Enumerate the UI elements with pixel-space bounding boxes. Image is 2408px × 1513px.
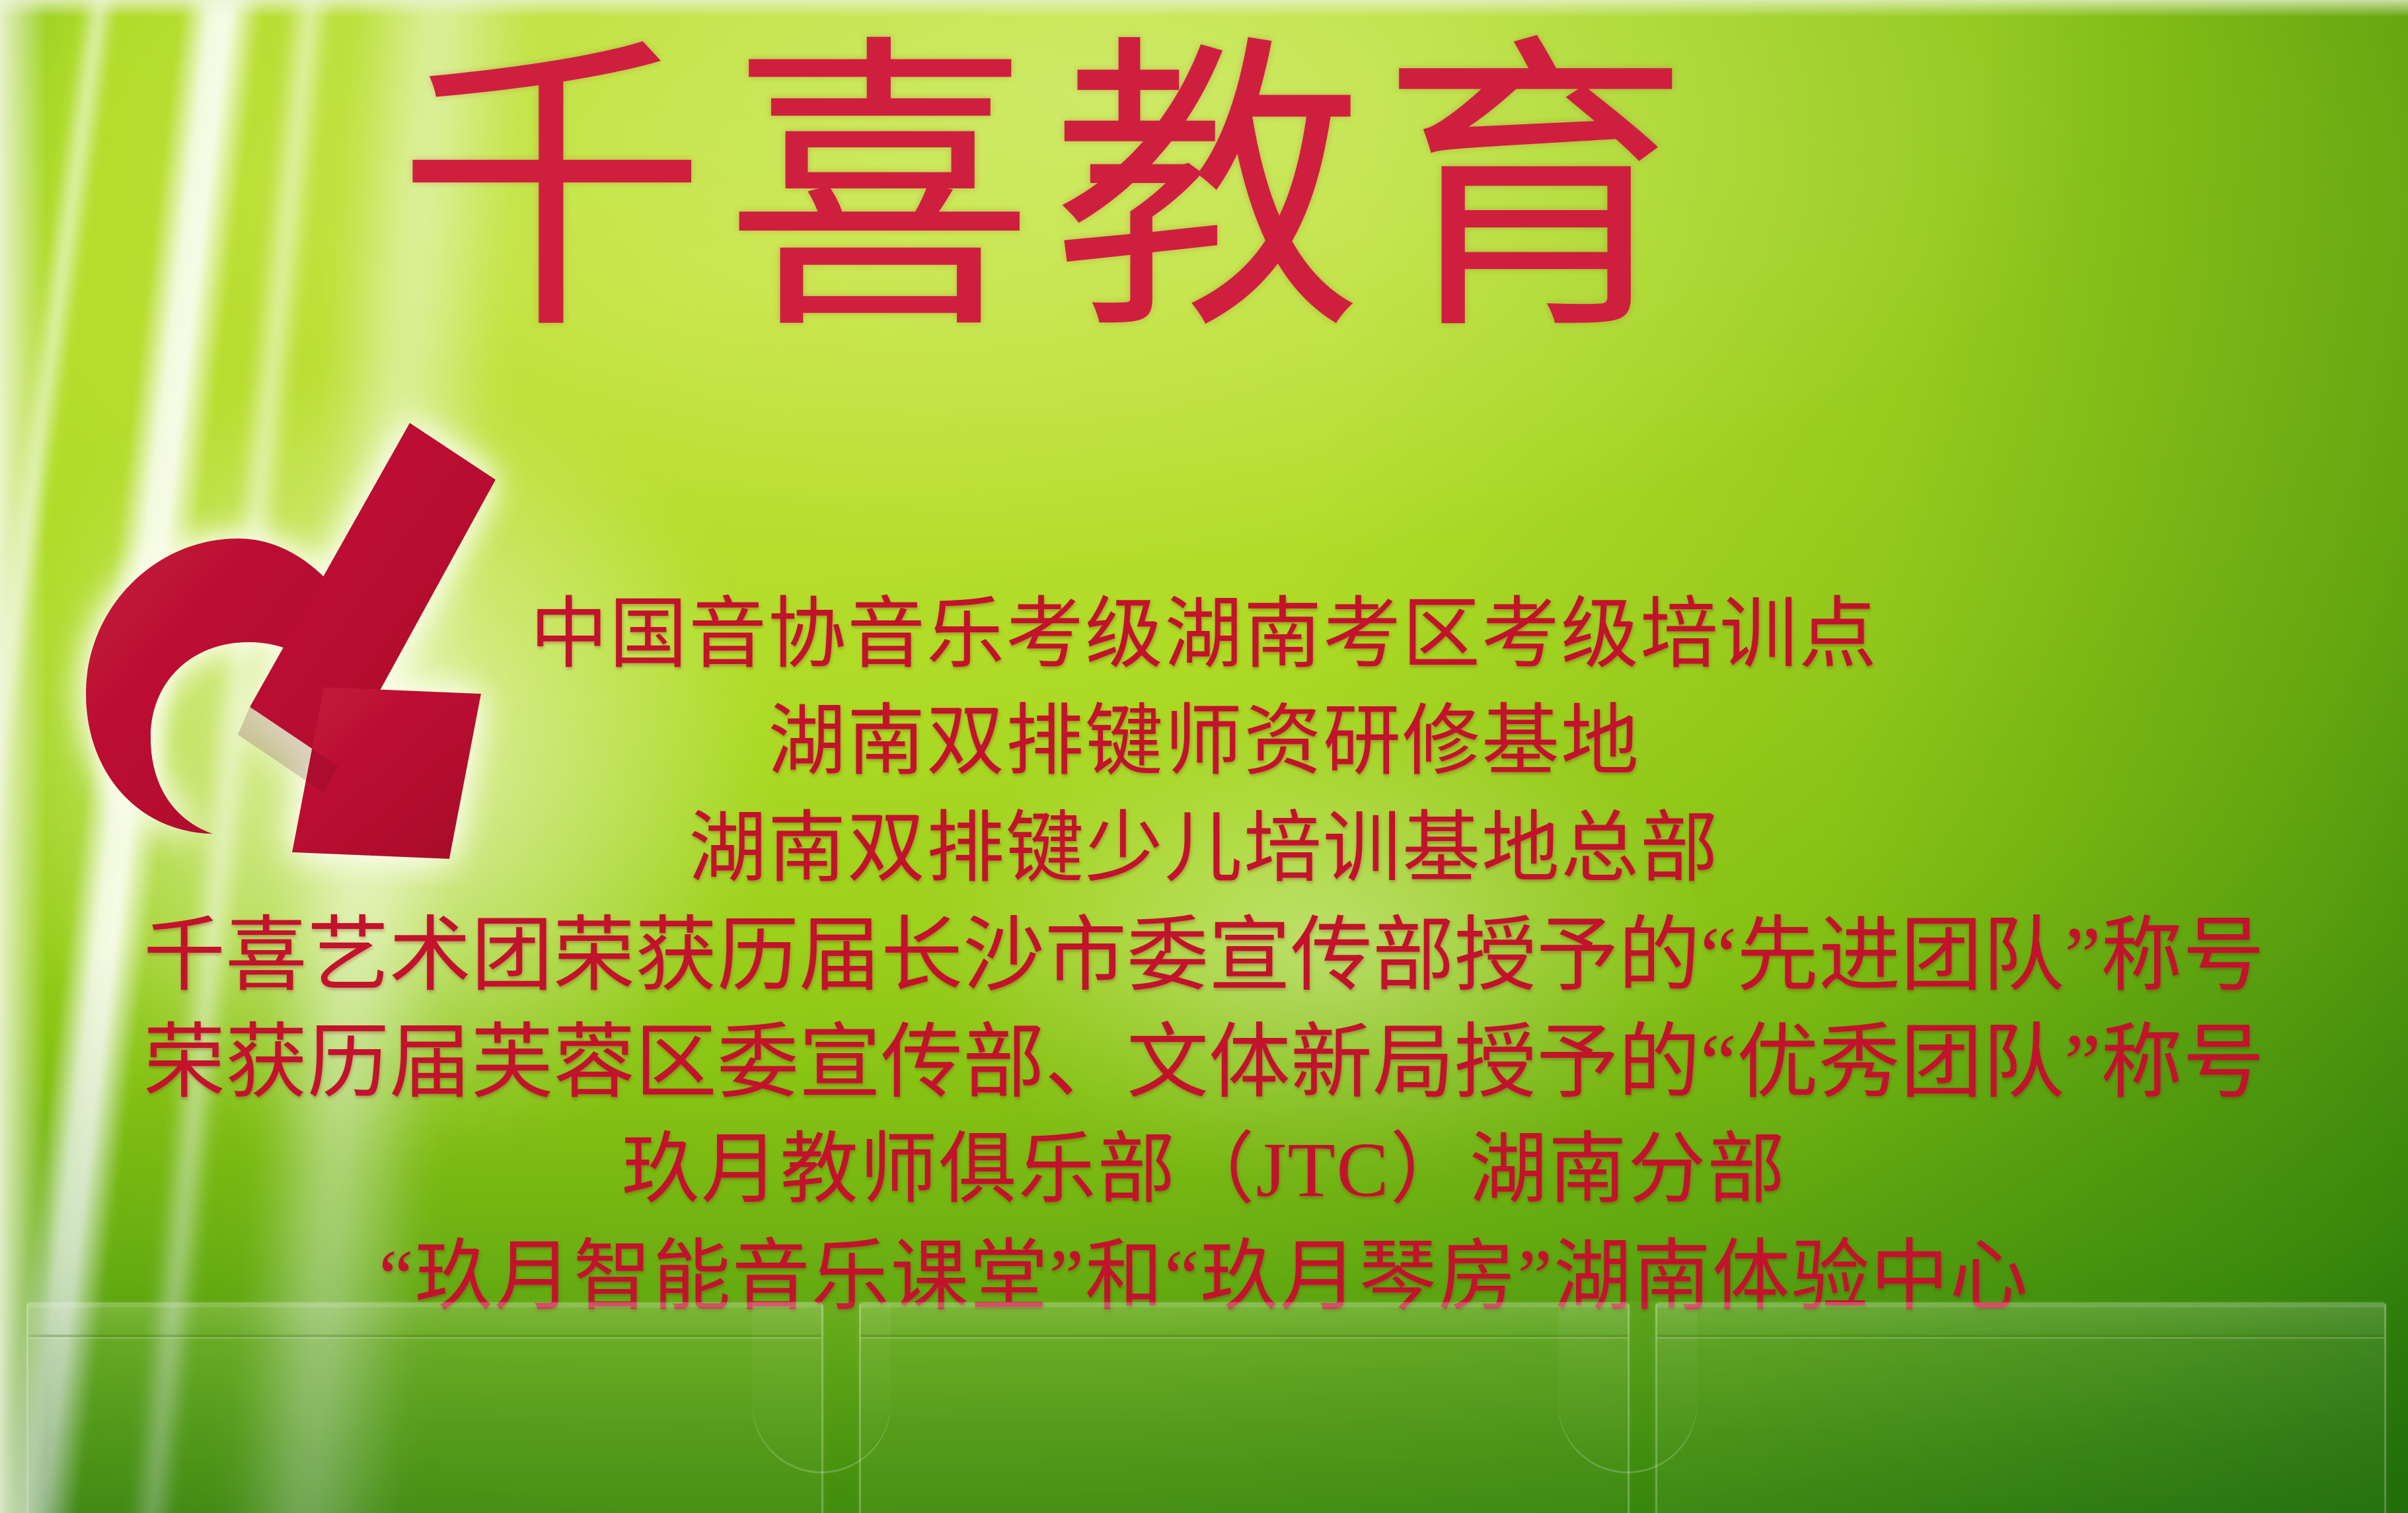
credential-line: 千喜艺术团荣获历届长沙市委宣传部授予的“先进团队”称号 <box>0 903 2408 1010</box>
credential-line: 湖南双排键师资研修基地 <box>0 688 2408 795</box>
signboard-photo: 千喜教育 <box>0 0 2408 1513</box>
credential-line: 中国音协音乐考级湖南考区考级培训点 <box>0 581 2408 688</box>
credential-line: 荣获历届芙蓉区委宣传部、文体新局授予的“优秀团队”称号 <box>0 1010 2408 1117</box>
page-title: 千喜教育 <box>396 20 2088 367</box>
credential-line: 玖月教师俱乐部（JTC）湖南分部 <box>0 1117 2408 1224</box>
credentials-list: 中国音协音乐考级湖南考区考级培训点 湖南双排键师资研修基地 湖南双排键少儿培训基… <box>0 581 2408 1331</box>
credential-line: “玖月智能音乐课堂”和“玖月琴房”湖南体验中心 <box>0 1224 2408 1331</box>
credential-line: 湖南双排键少儿培训基地总部 <box>0 795 2408 903</box>
